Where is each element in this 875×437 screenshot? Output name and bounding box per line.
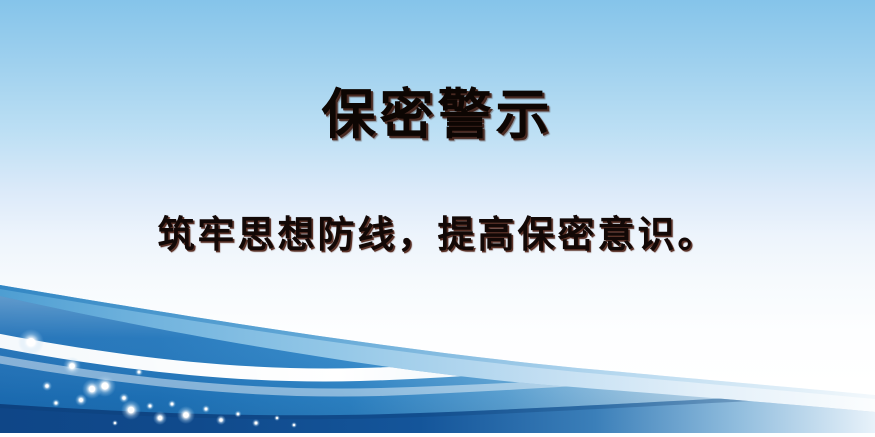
wave-navy-edge <box>0 391 875 419</box>
page-title: 保密警示 <box>0 84 875 146</box>
glowing-dots-cluster <box>18 329 297 428</box>
wave-main-body <box>0 296 875 437</box>
wave-white-highlight <box>0 330 875 382</box>
poster-canvas: 保密警示 筑牢思想防线，提高保密意识。 <box>0 0 875 437</box>
wave-main-shading <box>0 296 875 437</box>
wave-navy-band <box>0 391 875 437</box>
page-subtitle: 筑牢思想防线，提高保密意识。 <box>0 211 875 259</box>
wave-white-highlight-secondary <box>0 352 875 397</box>
bottom-white-strip <box>0 433 875 437</box>
wave-ribbon-edge <box>0 285 875 399</box>
wave-ribbon-upper <box>0 285 875 418</box>
